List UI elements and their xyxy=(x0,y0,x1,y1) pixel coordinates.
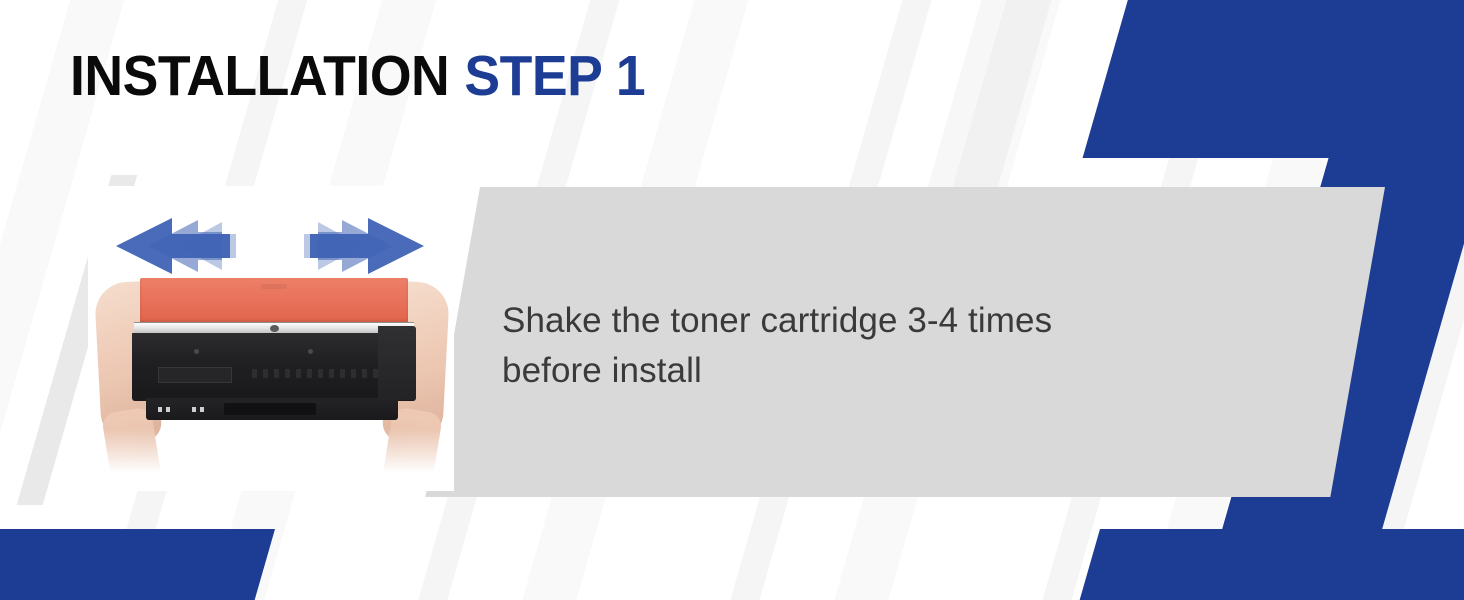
cartridge-contact-pin xyxy=(200,407,204,412)
photo-bottom-fade xyxy=(88,429,454,491)
page-title-primary: INSTALLATION xyxy=(70,44,449,108)
page-title-accent: STEP 1 xyxy=(464,44,645,108)
double-arrow-right-icon xyxy=(304,218,424,274)
product-photo xyxy=(88,186,454,491)
shake-motion-arrows xyxy=(110,214,430,274)
cartridge-orange-cover xyxy=(140,278,408,323)
cartridge-contact-pin xyxy=(166,407,170,412)
cartridge-screw-dot xyxy=(308,349,313,354)
cartridge-base xyxy=(146,398,398,420)
instruction-line-2: before install xyxy=(502,346,1202,396)
product-photo-inner xyxy=(88,186,454,491)
cartridge-label-plate xyxy=(158,367,232,383)
installation-step-banner: INSTALLATIONSTEP 1 Shake the toner cartr… xyxy=(0,0,1464,600)
cartridge-body xyxy=(132,333,416,401)
cartridge-contact-pin xyxy=(158,407,162,412)
accent-stripe-top xyxy=(927,0,1063,190)
cartridge-embossed-text xyxy=(252,369,382,378)
cartridge-screw-dot xyxy=(194,349,199,354)
cartridge-side-tab xyxy=(378,326,416,400)
cartridge-base-slot xyxy=(224,403,316,415)
cartridge-contact-pin xyxy=(192,407,196,412)
instruction-line-1: Shake the toner cartridge 3-4 times xyxy=(502,301,1052,340)
blue-shape-bottom-left xyxy=(0,529,275,600)
instruction-text: Shake the toner cartridge 3-4 times befo… xyxy=(502,296,1202,395)
toner-cartridge xyxy=(116,278,426,428)
double-arrow-left-icon xyxy=(116,218,236,274)
blue-shape-bottom-right xyxy=(1077,529,1464,600)
page-title: INSTALLATIONSTEP 1 xyxy=(70,48,645,105)
